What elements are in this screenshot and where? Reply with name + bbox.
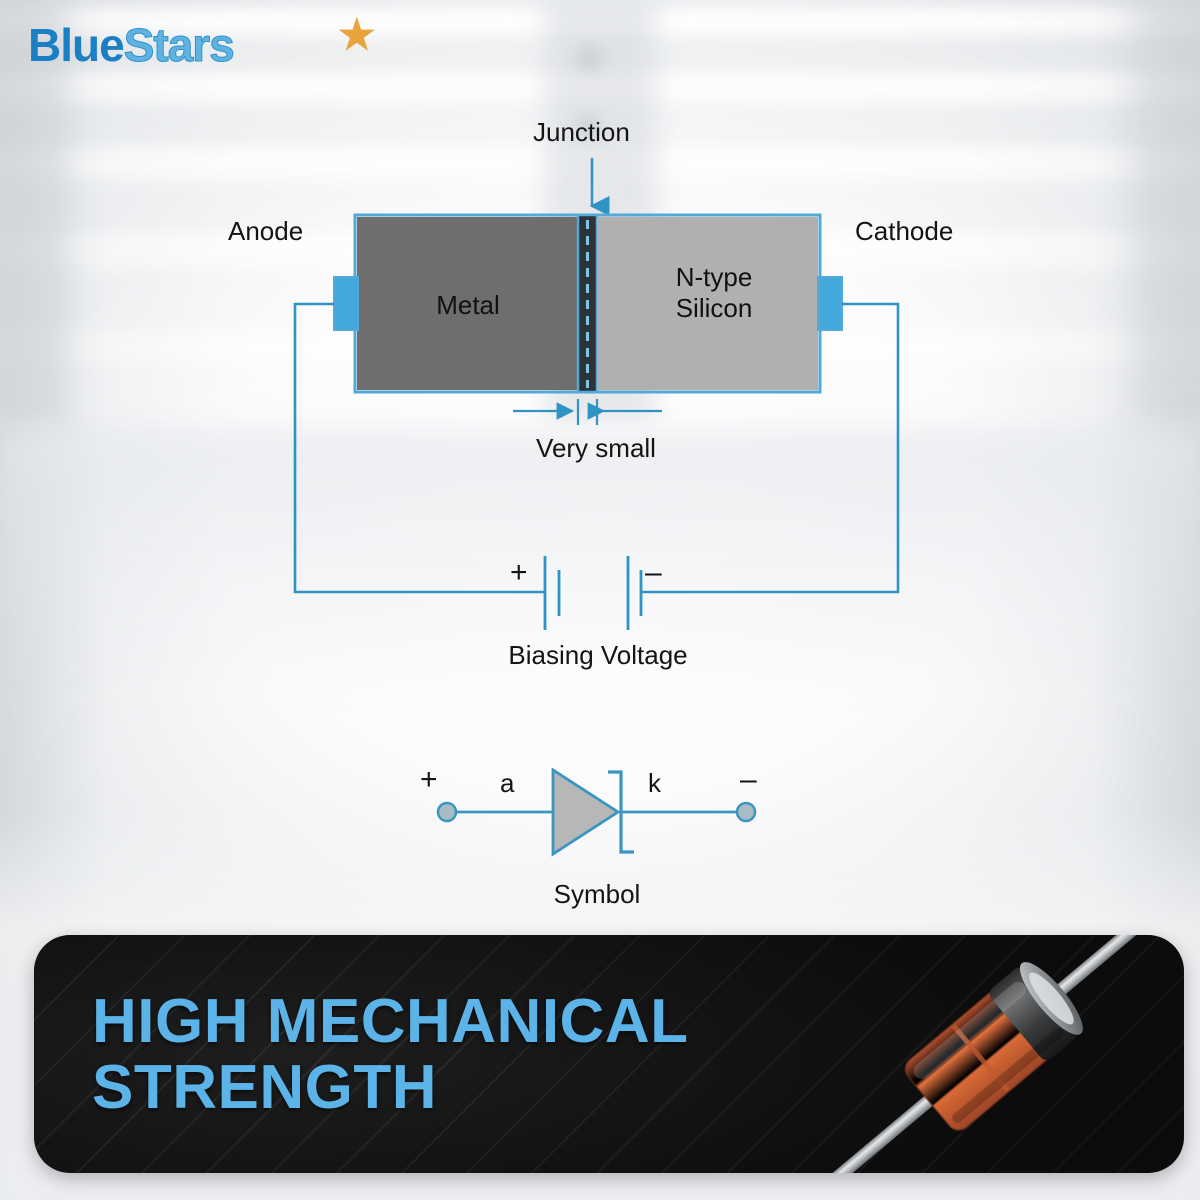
symbol-anode-letter: a: [500, 769, 514, 798]
cathode-terminal-tab: [818, 277, 842, 330]
symbol-cathode-terminal-dot: [737, 803, 755, 821]
banner-headline: HIGH MECHANICAL STRENGTH: [92, 989, 688, 1120]
symbol-caption: Symbol: [512, 880, 682, 909]
symbol-diode-triangle: [553, 770, 618, 854]
very-small-label: Very small: [512, 434, 680, 463]
junction-label: Junction: [533, 118, 630, 147]
anode-label: Anode: [228, 217, 303, 246]
ntype-line-2: Silicon: [638, 293, 790, 324]
ntype-block-label: N-type Silicon: [638, 262, 790, 323]
anode-terminal-tab: [334, 277, 358, 330]
feature-banner: HIGH MECHANICAL STRENGTH: [34, 935, 1184, 1173]
symbol-anode-terminal-dot: [438, 803, 456, 821]
cathode-label: Cathode: [855, 217, 953, 246]
battery-minus-sign: –: [645, 558, 662, 588]
biasing-voltage-label: Biasing Voltage: [493, 641, 703, 670]
axial-diode-photo-icon: [734, 935, 1184, 1173]
symbol-minus-sign: –: [740, 765, 757, 795]
metal-block-label: Metal: [398, 290, 538, 321]
symbol-plus-sign: +: [420, 765, 438, 795]
infographic-canvas: BlueStars ★: [0, 0, 1200, 1200]
symbol-cathode-letter: k: [648, 769, 661, 798]
battery-plus-sign: +: [510, 558, 528, 588]
ntype-line-1: N-type: [638, 262, 790, 293]
